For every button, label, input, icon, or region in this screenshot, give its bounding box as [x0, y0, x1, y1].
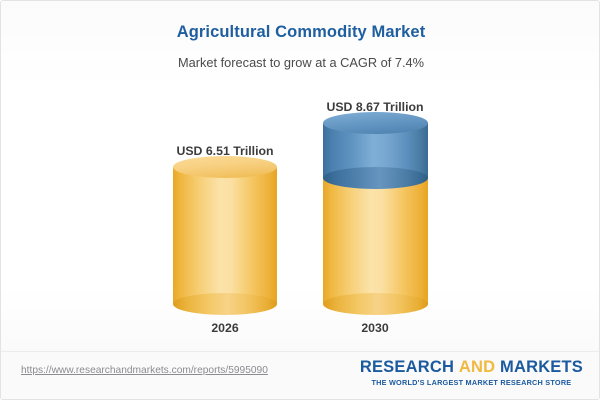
logo-wordmark: RESEARCH AND MARKETS [360, 359, 583, 376]
report-url-link[interactable]: https://www.researchandmarkets.com/repor… [21, 365, 268, 376]
bar-segment-growth-2030 [323, 123, 428, 178]
segment-top-ellipse [173, 156, 277, 178]
logo-word-research: RESEARCH [360, 358, 454, 376]
bar-segment-base-2026 [173, 167, 277, 304]
cylinder-bar-2030[interactable] [323, 123, 428, 304]
segment-body [173, 167, 277, 304]
footer: https://www.researchandmarkets.com/repor… [1, 352, 600, 400]
cylinder-chart: USD 6.51 Trillion USD 8.67 Trillion [1, 1, 600, 351]
research-and-markets-logo[interactable]: RESEARCH AND MARKETS THE WORLD'S LARGEST… [360, 359, 583, 387]
logo-word-and: AND [459, 358, 495, 376]
logo-tagline: THE WORLD'S LARGEST MARKET RESEARCH STOR… [360, 378, 583, 387]
segment-bottom-ellipse [173, 293, 277, 315]
logo-word-markets: MARKETS [500, 358, 583, 376]
infographic-card: Agricultural Commodity Market Market for… [0, 0, 600, 400]
axis-label-2026: 2026 [155, 321, 295, 335]
segment-bottom-ellipse [323, 167, 428, 189]
cylinder-bar-2026[interactable] [173, 167, 277, 304]
axis-label-2030: 2030 [305, 321, 445, 335]
segment-top-ellipse [323, 112, 428, 134]
segment-bottom-ellipse [323, 293, 428, 315]
